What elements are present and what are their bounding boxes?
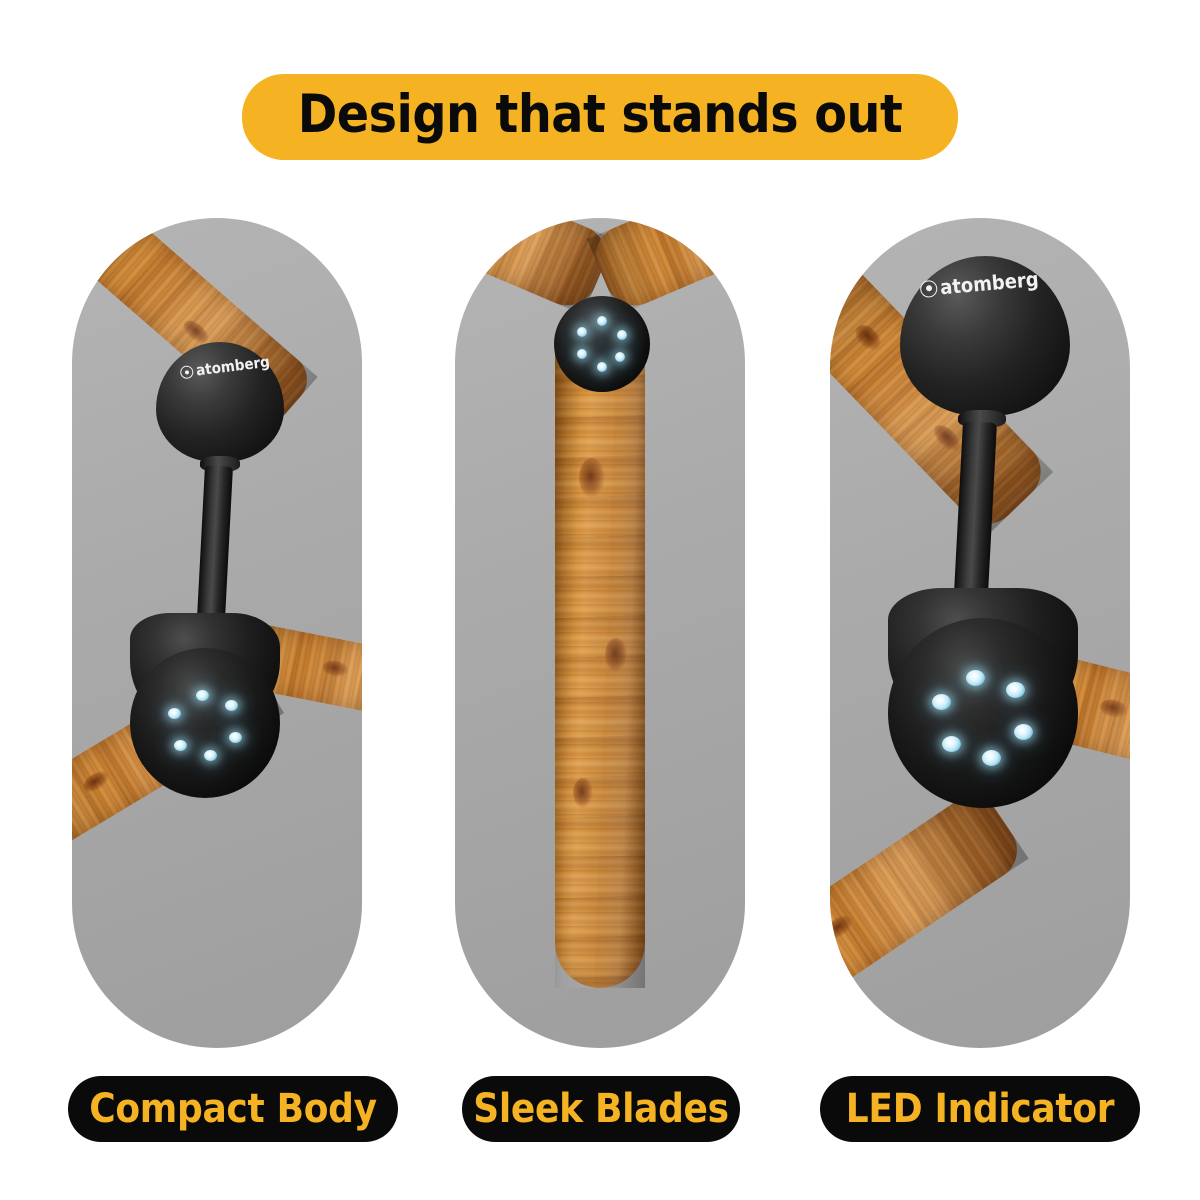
led-light xyxy=(942,736,961,752)
led-indicator-ring xyxy=(162,688,254,772)
led-light xyxy=(597,316,607,326)
led-light xyxy=(229,732,242,743)
fan-blade xyxy=(555,338,645,988)
fan-illustration-compact-body: atomberg xyxy=(72,218,362,1048)
atom-circle-icon xyxy=(180,365,194,379)
fan-illustration-led-indicator: atomberg xyxy=(830,218,1130,1048)
led-light xyxy=(204,750,217,761)
led-light xyxy=(932,694,951,710)
led-light xyxy=(225,700,238,711)
page-title: Design that stands out xyxy=(242,74,959,160)
led-light xyxy=(597,362,607,372)
panel-led-indicator[interactable]: atomberg xyxy=(830,218,1130,1048)
led-light xyxy=(577,327,587,337)
led-light xyxy=(617,330,627,340)
feature-panels: atomberg xyxy=(0,218,1200,1048)
downrod xyxy=(196,465,233,636)
fan-blade xyxy=(830,786,1029,1021)
panel-compact-body[interactable]: atomberg xyxy=(72,218,362,1048)
led-light xyxy=(168,708,181,719)
caption-led-indicator[interactable]: LED Indicator xyxy=(820,1076,1140,1142)
panel-sleek-blades[interactable] xyxy=(455,218,745,1048)
header: Design that stands out xyxy=(0,74,1200,160)
led-light xyxy=(982,750,1001,766)
led-light xyxy=(577,349,587,359)
fan-illustration-sleek-blades xyxy=(455,218,745,1048)
led-light xyxy=(615,352,625,362)
caption-compact-body[interactable]: Compact Body xyxy=(68,1076,398,1142)
led-indicator-ring xyxy=(575,316,631,374)
led-light xyxy=(966,670,985,686)
led-indicator-ring xyxy=(926,670,1044,774)
atom-circle-icon xyxy=(919,279,937,297)
led-light xyxy=(1006,682,1025,698)
caption-row: Compact Body Sleek Blades LED Indicator xyxy=(0,1076,1200,1142)
led-light xyxy=(174,740,187,751)
led-light xyxy=(1014,724,1033,740)
led-light xyxy=(196,690,209,701)
caption-sleek-blades[interactable]: Sleek Blades xyxy=(462,1076,740,1142)
